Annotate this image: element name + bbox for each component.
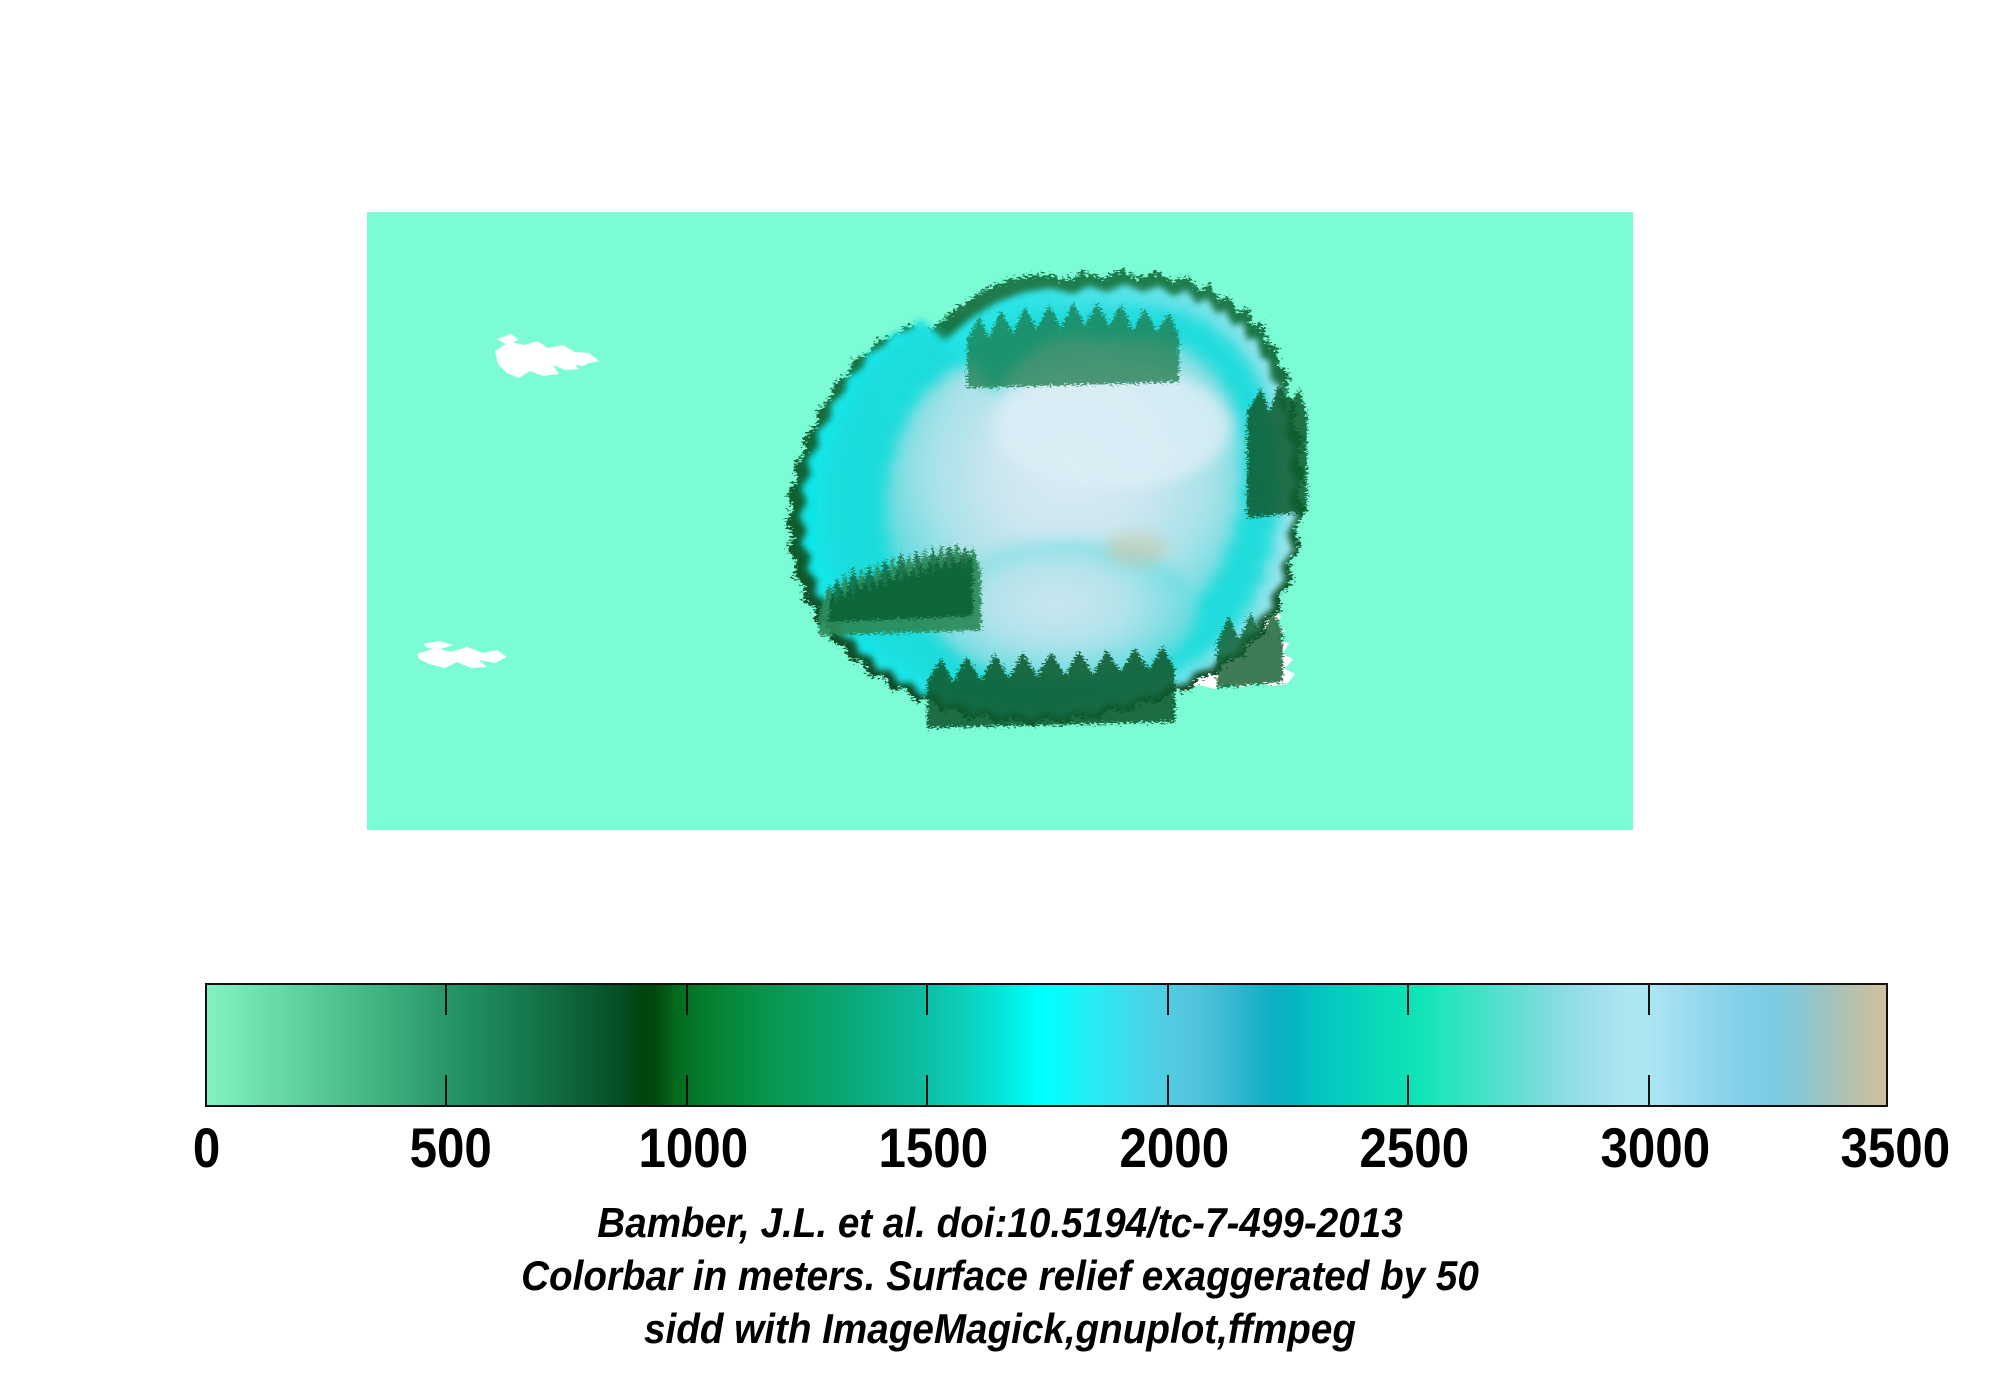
colorbar-label-500: 500 bbox=[410, 1117, 492, 1179]
colorbar-label-2500: 2500 bbox=[1360, 1117, 1470, 1179]
map-panel bbox=[367, 212, 1633, 830]
colorbar-tick-bottom-1000 bbox=[686, 1075, 688, 1105]
greenland-relief-image bbox=[367, 212, 1633, 830]
colorbar-tick-bottom-500 bbox=[445, 1075, 447, 1105]
colorbar-label-2000: 2000 bbox=[1119, 1117, 1229, 1179]
caption-line-credits: sidd with ImageMagick,gnuplot,ffmpeg bbox=[80, 1302, 1920, 1355]
caption-line-citation: Bamber, J.L. et al. doi:10.5194/tc-7-499… bbox=[80, 1196, 1920, 1249]
colorbar-tick-500 bbox=[445, 985, 447, 1015]
colorbar-label-0: 0 bbox=[193, 1117, 220, 1179]
colorbar-label-3000: 3000 bbox=[1600, 1117, 1710, 1179]
caption-line-units: Colorbar in meters. Surface relief exagg… bbox=[80, 1249, 1920, 1302]
colorbar-gradient bbox=[205, 983, 1888, 1107]
colorbar-tick-2500 bbox=[1407, 985, 1409, 1015]
colorbar-label-3500: 3500 bbox=[1841, 1117, 1951, 1179]
colorbar bbox=[205, 983, 1888, 1107]
colorbar-tick-1000 bbox=[686, 985, 688, 1015]
colorbar-tick-bottom-1500 bbox=[926, 1075, 928, 1105]
colorbar-label-1000: 1000 bbox=[639, 1117, 749, 1179]
colorbar-tick-1500 bbox=[926, 985, 928, 1015]
colorbar-tick-3000 bbox=[1648, 985, 1650, 1015]
colorbar-tick-bottom-2000 bbox=[1167, 1075, 1169, 1105]
colorbar-tick-2000 bbox=[1167, 985, 1169, 1015]
colorbar-tick-bottom-3000 bbox=[1648, 1075, 1650, 1105]
ice-summit-highlight bbox=[1107, 532, 1167, 566]
colorbar-tick-labels: 0500100015002000250030003500 bbox=[0, 1117, 2000, 1187]
colorbar-tick-bottom-2500 bbox=[1407, 1075, 1409, 1105]
figure-caption: Bamber, J.L. et al. doi:10.5194/tc-7-499… bbox=[0, 1196, 2000, 1355]
colorbar-label-1500: 1500 bbox=[879, 1117, 989, 1179]
